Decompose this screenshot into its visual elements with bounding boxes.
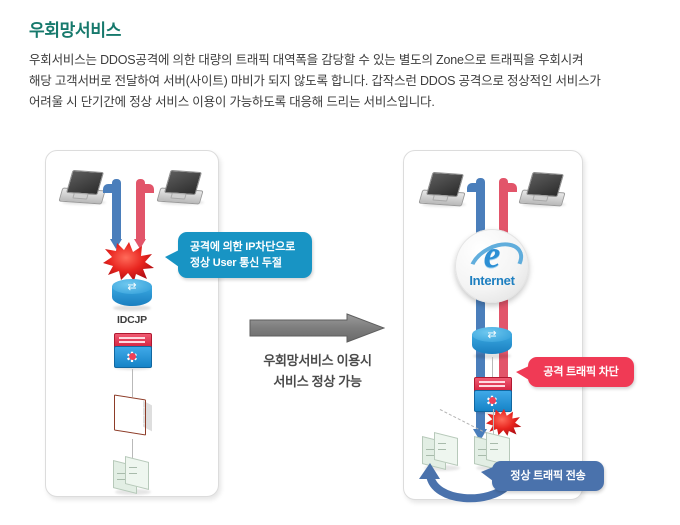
callout-ip-block-line2: 정상 User 통신 두절 [190, 255, 312, 271]
callout-attack-block: 공격 트래픽 차단 [528, 357, 634, 387]
description-line-1: 우회서비스는 DDOS공격에 의한 대량의 트래픽 대역폭을 감당할 수 있는 … [29, 50, 649, 71]
laptop-icon-normal-user-left [60, 171, 106, 205]
callout-ip-block: 공격에 의한 IP차단으로 정상 User 통신 두절 [178, 232, 312, 278]
server-icon-left [111, 457, 153, 497]
center-caption-line1: 우회망서비스 이용시 [230, 350, 405, 371]
description-line-2: 해당 고객서버로 전달하여 서버(사이트) 마비가 되지 않도록 합니다. 갑작… [29, 71, 649, 92]
link-line-switch-firewall [132, 369, 133, 397]
laptop-icon-normal-user-right [420, 173, 466, 207]
right-arrow-icon [249, 313, 385, 343]
callout-ip-block-line1: 공격에 의한 IP차단으로 [190, 239, 312, 255]
diagram-panel-before: ⇄ IDCJP ✱ [45, 150, 219, 497]
page-root: 우회망서비스 우회서비스는 DDOS공격에 의한 대량의 트래픽 대역폭을 감당… [0, 0, 680, 525]
firewall-icon-left [112, 395, 152, 435]
flow-pipe-blue-vertical [112, 184, 121, 241]
internet-label: Internet [455, 273, 529, 288]
node-label-idcjp: IDCJP [92, 314, 172, 326]
laptop-icon-attacker-right [520, 173, 566, 207]
callout-normal-traffic: 정상 트래픽 전송 [492, 461, 604, 491]
callout-normal-traffic-text: 정상 트래픽 전송 [510, 470, 585, 482]
callout-attack-block-text: 공격 트래픽 차단 [543, 366, 618, 378]
internet-explorer-icon: e Internet [455, 229, 529, 303]
center-caption-line2: 서비스 정상 가능 [230, 371, 405, 392]
router-icon-right: ⇄ [472, 327, 512, 359]
diagram-panel-after: e Internet ⇄ [403, 150, 583, 500]
laptop-icon-attacker-left [158, 171, 204, 205]
flow-pipe-red-vertical [136, 184, 145, 241]
center-caption: 우회망서비스 이용시 서비스 정상 가능 [230, 350, 405, 392]
explosion-icon-left [103, 241, 155, 281]
page-description: 우회서비스는 DDOS공격에 의한 대량의 트래픽 대역폭을 감당할 수 있는 … [29, 50, 649, 113]
description-line-3: 어려울 시 단기간에 정상 서비스 이용이 가능하도록 대응해 드리는 서비스입… [29, 92, 649, 113]
switch-icon-left: ✱ [112, 333, 152, 369]
router-icon-idcjp: ⇄ [112, 279, 152, 311]
page-title: 우회망서비스 [29, 16, 121, 41]
